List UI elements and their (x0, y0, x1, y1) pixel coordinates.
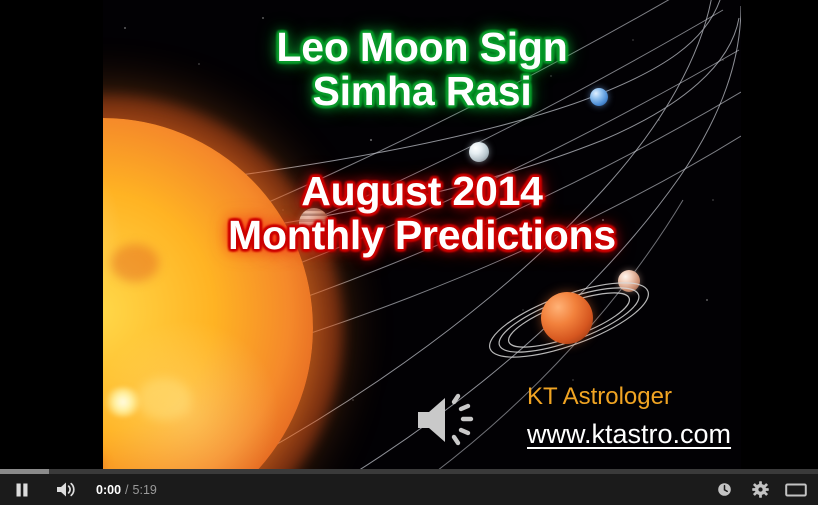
time-current: 0:00 (96, 483, 121, 497)
speaker-icon (414, 391, 476, 449)
video-player: Leo Moon SignSimha Rasi August 2014Month… (0, 0, 818, 505)
fullscreen-button[interactable] (778, 474, 814, 505)
progress-bar[interactable] (0, 469, 818, 474)
brand-url[interactable]: www.ktastro.com (527, 419, 731, 450)
volume-icon (56, 481, 77, 498)
right-controls (706, 474, 814, 505)
video-stage[interactable]: Leo Moon SignSimha Rasi August 2014Month… (103, 0, 741, 474)
gear-icon (752, 481, 769, 498)
video-subheadline: August 2014Monthly Predictions (103, 170, 741, 258)
video-headline: Leo Moon SignSimha Rasi (103, 26, 741, 114)
player-control-bar: 0:00 / 5:19 (0, 474, 818, 505)
planet-saturn (541, 292, 593, 344)
time-separator: / (125, 483, 128, 497)
progress-loaded (0, 469, 49, 474)
planet-uranus (469, 142, 489, 162)
headline-line-2: Simha Rasi (312, 68, 531, 114)
fullscreen-icon (785, 482, 807, 498)
time-total: 5:19 (133, 483, 157, 497)
pause-icon (14, 482, 30, 498)
time-display: 0:00 / 5:19 (96, 483, 157, 497)
headline-line-1: Leo Moon Sign (276, 24, 567, 70)
watch-later-button[interactable] (706, 474, 742, 505)
subhead-line-1: August 2014 (301, 168, 543, 214)
clock-icon (717, 482, 732, 497)
settings-button[interactable] (742, 474, 778, 505)
pause-button[interactable] (0, 474, 44, 505)
volume-button[interactable] (46, 474, 86, 505)
planet-mars (618, 270, 640, 292)
subhead-line-2: Monthly Predictions (228, 212, 616, 258)
solar-flare (103, 387, 143, 417)
brand-name: KT Astrologer (527, 383, 672, 411)
